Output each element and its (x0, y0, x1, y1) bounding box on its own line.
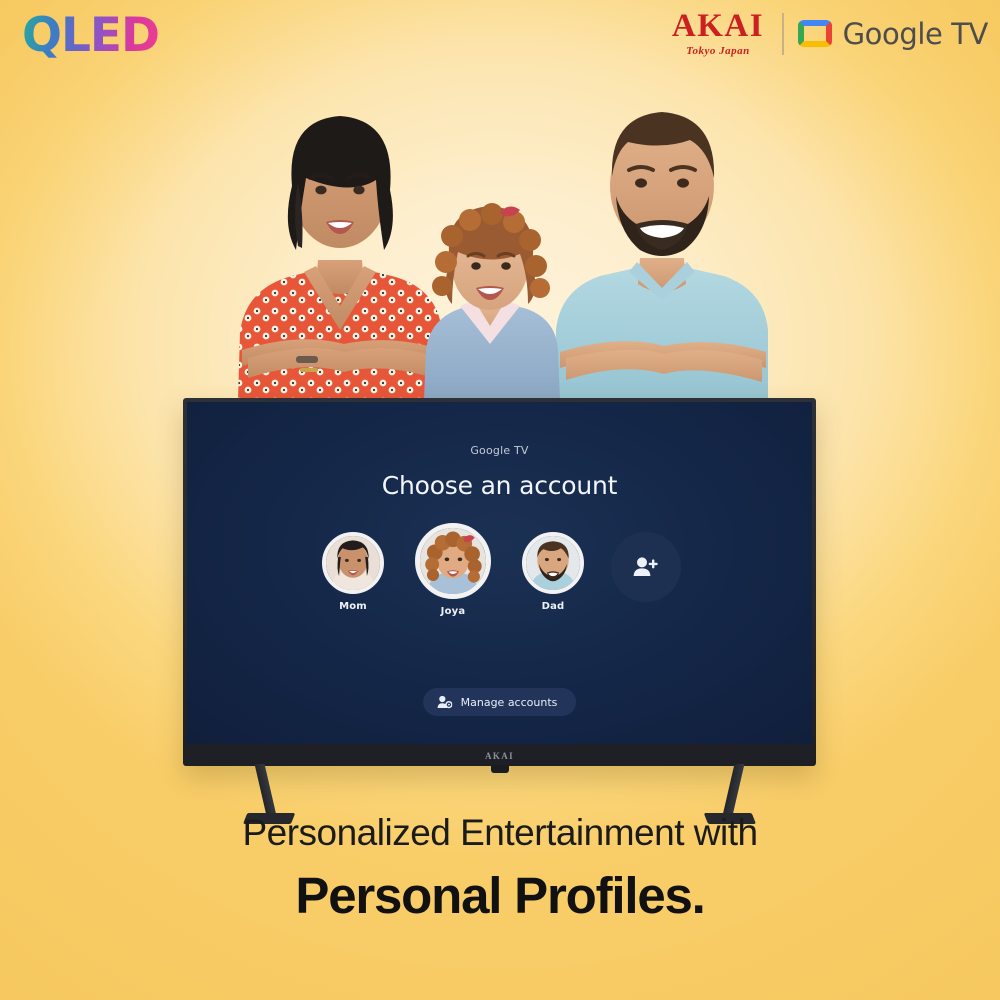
google-tv-label: Google TV (843, 17, 988, 51)
profile-label-mom: Mom (339, 601, 367, 612)
avatar-dad (522, 532, 584, 594)
profile-label-dad: Dad (542, 601, 565, 612)
person-add-icon (633, 556, 659, 578)
person-mom (238, 116, 444, 400)
avatar-joya (415, 523, 491, 599)
brand-divider (782, 13, 784, 55)
tv-bezel: Google TV Choose an account (183, 398, 816, 766)
tv-bezel-logo: AKAI (183, 751, 816, 761)
headline-line-1: Personalized Entertainment with (0, 812, 1000, 854)
headline-line-2: Personal Profiles. (0, 866, 1000, 925)
avatar-mom (322, 532, 384, 594)
manage-accounts-button[interactable]: Manage accounts (423, 688, 577, 716)
person-joya (424, 203, 560, 400)
google-tv-square-icon (798, 20, 832, 47)
google-tv-account-screen: Google TV Choose an account (187, 402, 812, 744)
screen-title: Choose an account (382, 471, 618, 500)
profile-label-joya: Joya (441, 606, 466, 617)
manage-accounts-icon (437, 695, 452, 709)
akai-tagline: Tokyo Japan (672, 45, 764, 57)
akai-logo: AKAI Tokyo Japan (672, 10, 768, 57)
google-tv-logo: Google TV (798, 17, 988, 51)
tv-screen: Google TV Choose an account (187, 402, 812, 744)
qled-logo: QLED (22, 12, 159, 59)
brand-bar: AKAI Tokyo Japan Google TV (672, 10, 988, 57)
television: Google TV Choose an account (183, 398, 816, 766)
akai-wordmark: AKAI (672, 10, 764, 43)
profile-list: Mom (314, 532, 685, 617)
tv-ir-sensor (491, 765, 509, 773)
add-account-circle[interactable] (611, 532, 681, 602)
person-dad (556, 112, 768, 400)
headline: Personalized Entertainment with Personal… (0, 812, 1000, 925)
profile-mom[interactable]: Mom (314, 532, 392, 612)
profile-joya[interactable]: Joya (407, 523, 499, 617)
screen-app-label: Google TV (470, 444, 528, 457)
manage-accounts-label: Manage accounts (461, 696, 558, 709)
family-photo (0, 0, 1000, 420)
profile-dad[interactable]: Dad (514, 532, 592, 612)
add-account-button[interactable] (607, 532, 685, 602)
